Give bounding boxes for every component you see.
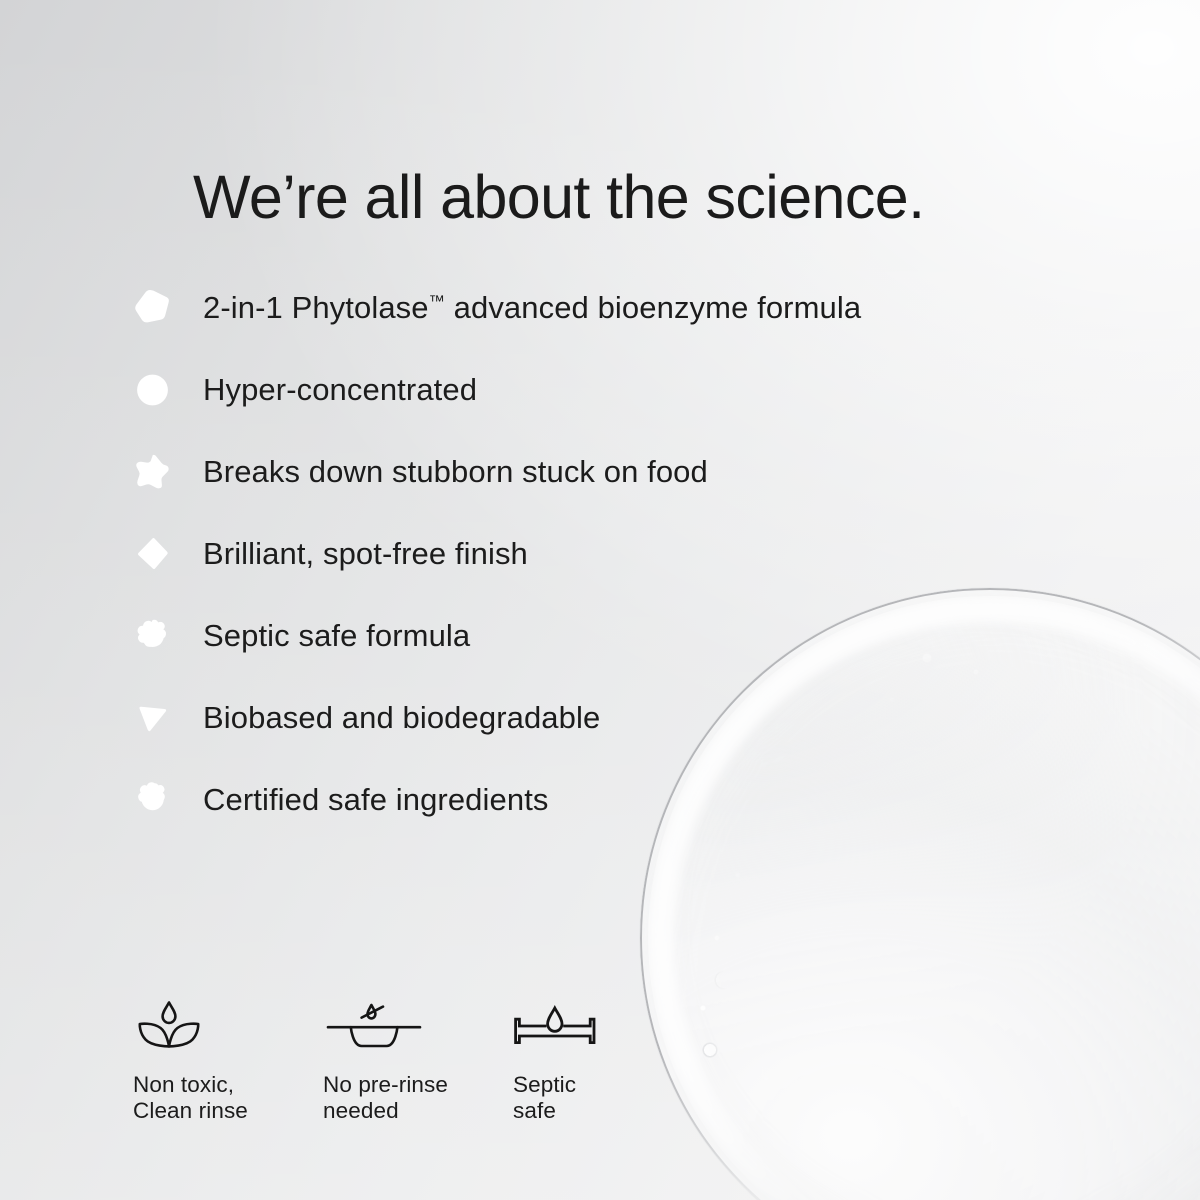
six-lobe-flower-bullet-icon [133, 616, 173, 656]
badge-label: Septic safe [513, 1072, 703, 1124]
badge-no-pre-rinse: No pre-rinse needed [323, 992, 513, 1124]
list-item: Septic safe formula [133, 605, 1073, 667]
gel-reflection-streaks [680, 918, 1110, 1200]
list-item: Breaks down stubborn stuck on food [133, 441, 1073, 503]
list-item-label: 2-in-1 Phytolase™ advanced bioenzyme for… [203, 288, 861, 328]
circle-bullet-icon [133, 370, 173, 410]
list-item-label: Brilliant, spot-free finish [203, 534, 528, 574]
list-item-label: Septic safe formula [203, 616, 470, 656]
leaf-droplet-icon [133, 992, 323, 1056]
diamond-bullet-icon [133, 534, 173, 574]
list-item-label: Breaks down stubborn stuck on food [203, 452, 708, 492]
badge-septic-safe: Septic safe [513, 992, 703, 1124]
no-pre-rinse-bowl-icon [323, 992, 513, 1056]
list-item: Biobased and biodegradable [133, 687, 1073, 749]
badge-non-toxic: Non toxic, Clean rinse [133, 992, 323, 1124]
feature-list: 2-in-1 Phytolase™ advanced bioenzyme for… [133, 277, 1073, 851]
pentagon-blob-bullet-icon [133, 288, 173, 328]
list-item-label: Hyper-concentrated [203, 370, 477, 410]
promo-panel: We’re all about the science. 2-in-1 Phyt… [0, 0, 1200, 1200]
triangle-bullet-icon [133, 698, 173, 738]
list-item-label: Certified safe ingredients [203, 780, 549, 820]
page-title: We’re all about the science. [193, 160, 1093, 234]
rounded-star-bullet-icon [133, 452, 173, 492]
list-item: Certified safe ingredients [133, 769, 1073, 831]
list-item-label: Biobased and biodegradable [203, 698, 600, 738]
badge-row: Non toxic, Clean rinse No pre-rinse need… [133, 992, 703, 1124]
seven-lobe-flower-bullet-icon [133, 780, 173, 820]
list-item: 2-in-1 Phytolase™ advanced bioenzyme for… [133, 277, 1073, 339]
list-item: Brilliant, spot-free finish [133, 523, 1073, 585]
badge-label: Non toxic, Clean rinse [133, 1072, 323, 1124]
septic-pipe-droplet-icon [513, 992, 703, 1056]
list-item: Hyper-concentrated [133, 359, 1073, 421]
badge-label: No pre-rinse needed [323, 1072, 513, 1124]
